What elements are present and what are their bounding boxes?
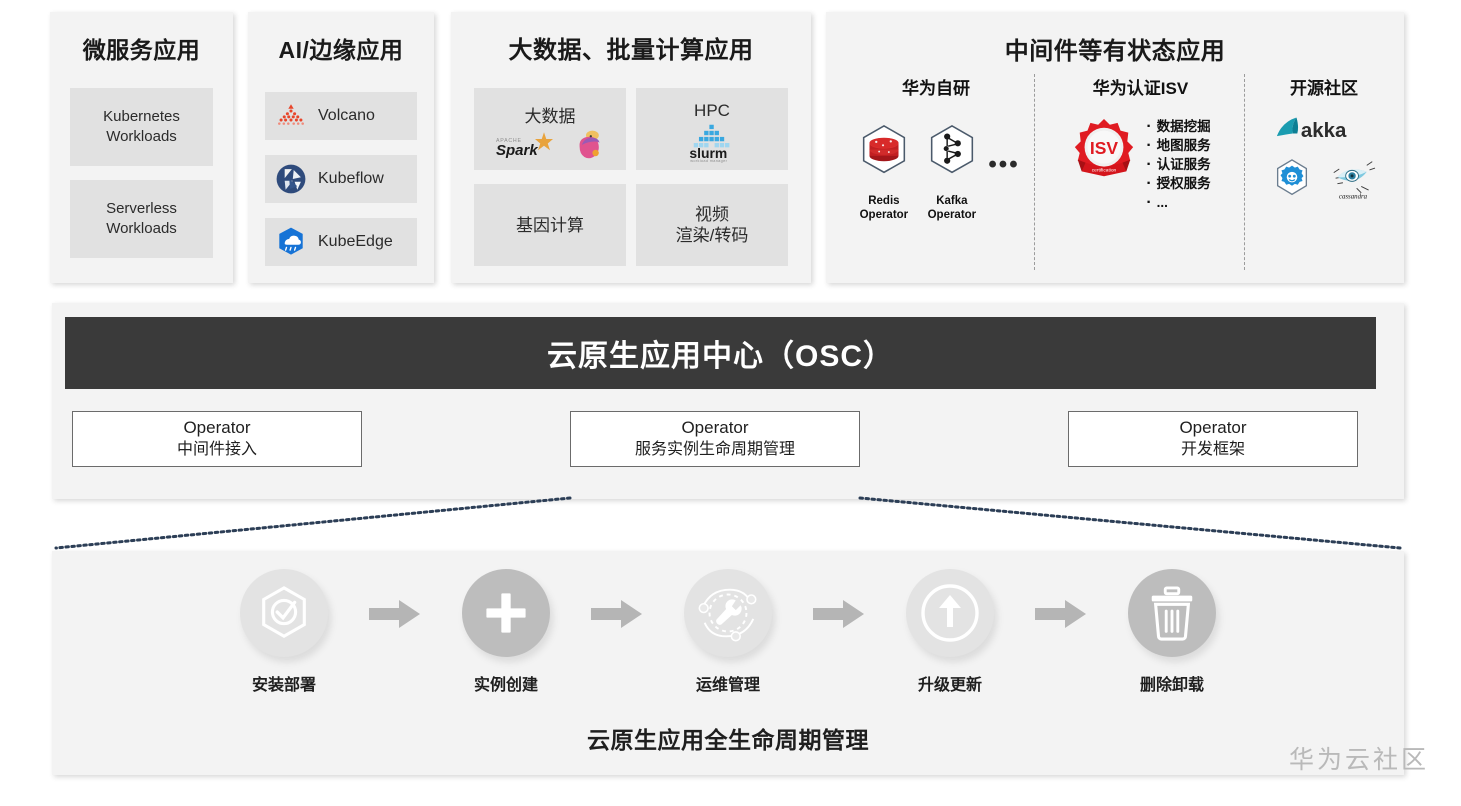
middleware-column-huawei-inhouse: 华为自研 [838,74,1034,274]
operator-box-development-framework[interactable]: Operator 开发框架 [1068,411,1358,467]
isv-service-item: ... [1146,193,1210,212]
more-operators-ellipsis: ••• [988,123,1019,179]
panel-title-middleware: 中间件等有状态应用 [826,12,1404,66]
lifecycle-step-circle [684,569,772,657]
arrow-up-circle-icon [918,581,982,645]
svg-text:cassandra: cassandra [1339,193,1368,200]
column-subtitle: 开源社区 [1250,74,1398,99]
isv-certification-badge-icon: ISV certification [1070,117,1138,187]
lifecycle-arrow [803,569,875,629]
tile-body: 视频 渲染/转码 [676,204,749,246]
operator-name: Kafka Operator [920,194,983,222]
watermark-text: 华为云社区 [1289,740,1429,776]
tile-line-2: Workloads [106,219,177,239]
operator-redis: Redis Operator [852,123,915,222]
panel-title-bigdata: 大数据、批量计算应用 [451,12,811,65]
kubeedge-logo-icon [273,224,309,260]
diagram-canvas: 微服务应用 Kubernetes Workloads Serverless Wo… [0,0,1461,806]
akka-logo-icon: akka [1274,113,1374,145]
tile-bigdata: 大数据 APACHE Spark [474,88,626,170]
isv-content: ISV certification 数据挖掘 地图服务 认证服务 授权服务 ..… [1038,117,1243,212]
oss-logo-row-2: cassandra [1250,158,1398,202]
tile-logo-group: APACHE Spark [496,129,604,161]
plus-icon [478,585,534,641]
lifecycle-arrow [1025,569,1097,629]
lifecycle-step-label: 实例创建 [431,671,581,695]
lifecycle-steps-row: 安装部署 实例创建 [52,569,1404,695]
tile-serverless-workloads: Serverless Workloads [70,180,213,258]
osc-banner-title: 云原生应用中心（OSC） [547,331,894,375]
operator-box-line-1: Operator [1179,417,1246,439]
panel-microservice-applications: 微服务应用 Kubernetes Workloads Serverless Wo… [50,12,233,283]
kubernetes-gear-logo-icon [1272,158,1312,202]
tile-logo-group: slurm workload manager [681,123,743,163]
lifecycle-step-label: 安装部署 [209,671,359,695]
tile-heading: 大数据 [525,102,576,127]
operator-box-line-2: 开发框架 [1181,439,1245,461]
lifecycle-step-label: 升级更新 [875,671,1025,695]
column-divider [1034,74,1035,270]
isv-service-item: 数据挖掘 [1146,117,1210,136]
lifecycle-step-label: 运维管理 [653,671,803,695]
operator-box-line-2: 中间件接入 [177,439,257,461]
right-arrow-icon [1035,599,1087,629]
lifecycle-step-circle [1128,569,1216,657]
isv-service-item: 地图服务 [1146,136,1210,155]
connector-right-dotted-line [860,498,1400,548]
tile-line-1: Serverless [106,199,177,219]
column-divider [1244,74,1245,270]
svg-text:workload manager: workload manager [690,159,727,163]
kafka-operator-icon [924,123,980,183]
panel-lifecycle: 安装部署 实例创建 [52,551,1404,775]
right-arrow-icon [591,599,643,629]
operator-box-middleware-onboarding[interactable]: Operator 中间件接入 [72,411,362,467]
lifecycle-step-circle [240,569,328,657]
lifecycle-caption: 云原生应用全生命周期管理 [52,721,1404,755]
panel-middleware-stateful-applications: 中间件等有状态应用 华为自研 [826,12,1404,283]
isv-service-item: 认证服务 [1146,155,1210,174]
tile-hpc: HPC slurm workload manager [636,88,788,170]
tile-volcano: Volcano [265,92,417,140]
tile-kubernetes-workloads: Kubernetes Workloads [70,88,213,166]
operator-box-service-instance-lifecycle[interactable]: Operator 服务实例生命周期管理 [570,411,860,467]
tile-genome-computing: 基因计算 [474,184,626,266]
lifecycle-step-circle [462,569,550,657]
lifecycle-step-instance-create: 实例创建 [431,569,581,695]
volcano-logo-icon [273,98,309,134]
hexagon-check-icon [255,584,313,642]
svg-text:ISV: ISV [1090,138,1119,158]
lifecycle-step-delete-uninstall: 删除卸载 [1097,569,1247,695]
right-arrow-icon [369,599,421,629]
operator-row: Redis Operator [838,123,1034,222]
svg-text:certification: certification [1092,167,1117,173]
isv-service-list: 数据挖掘 地图服务 认证服务 授权服务 ... [1146,117,1210,212]
panel-bigdata-batch-applications: 大数据、批量计算应用 大数据 APACHE Spark [451,12,811,283]
lifecycle-arrow [581,569,653,629]
operator-box-line-2: 服务实例生命周期管理 [635,439,795,461]
panel-title-ai-edge: AI/边缘应用 [248,12,434,65]
lifecycle-step-circle [906,569,994,657]
ai-item-label: KubeEdge [318,233,393,251]
wrench-orbit-icon [693,578,763,648]
middleware-column-open-source-community: 开源社区 akka [1250,74,1398,274]
lifecycle-step-install-deploy: 安装部署 [209,569,359,695]
right-arrow-icon [813,599,865,629]
oss-logo-group: akka [1250,113,1398,202]
kubeflow-logo-icon [273,161,309,197]
panel-osc: 云原生应用中心（OSC） Operator 中间件接入 Operator 服务实… [52,303,1404,499]
redis-operator-icon [856,123,912,183]
column-subtitle: 华为认证ISV [1038,74,1243,99]
cassandra-logo-icon: cassandra [1330,158,1376,202]
operator-name: Redis Operator [852,194,915,222]
tile-kubeflow: Kubeflow [265,155,417,203]
operator-box-line-1: Operator [681,417,748,439]
isv-service-item: 授权服务 [1146,174,1210,193]
apache-hadoop-logo-icon [576,129,604,161]
panel-title-microservice: 微服务应用 [50,12,233,65]
operator-box-line-1: Operator [183,417,250,439]
osc-banner: 云原生应用中心（OSC） [65,317,1376,389]
panel-ai-edge-applications: AI/边缘应用 Volcano [248,12,434,283]
svg-text:Spark: Spark [496,142,538,159]
apache-spark-logo-icon: APACHE Spark [496,130,562,160]
slurm-logo-icon: slurm workload manager [681,123,743,163]
tile-kubeedge: KubeEdge [265,218,417,266]
lifecycle-step-label: 删除卸载 [1097,671,1247,695]
tile-video-render-transcode: 视频 渲染/转码 [636,184,788,266]
connector-left-dotted-line [56,498,570,548]
svg-text:akka: akka [1301,119,1347,142]
column-subtitle: 华为自研 [838,74,1034,99]
middleware-column-huawei-certified-isv: 华为认证ISV ISV certification 数据挖掘 地图服务 [1038,74,1243,274]
operator-kafka: Kafka Operator [920,123,983,222]
tile-heading: HPC [694,101,730,121]
lifecycle-arrow [359,569,431,629]
lifecycle-step-upgrade-update: 升级更新 [875,569,1025,695]
tile-body: 基因计算 [516,215,584,236]
lifecycle-step-operations-management: 运维管理 [653,569,803,695]
tile-line-1: Kubernetes [103,107,180,127]
ai-item-label: Kubeflow [318,170,384,188]
ai-item-label: Volcano [318,107,375,125]
tile-line-2: Workloads [106,127,177,147]
trash-icon [1145,584,1199,642]
